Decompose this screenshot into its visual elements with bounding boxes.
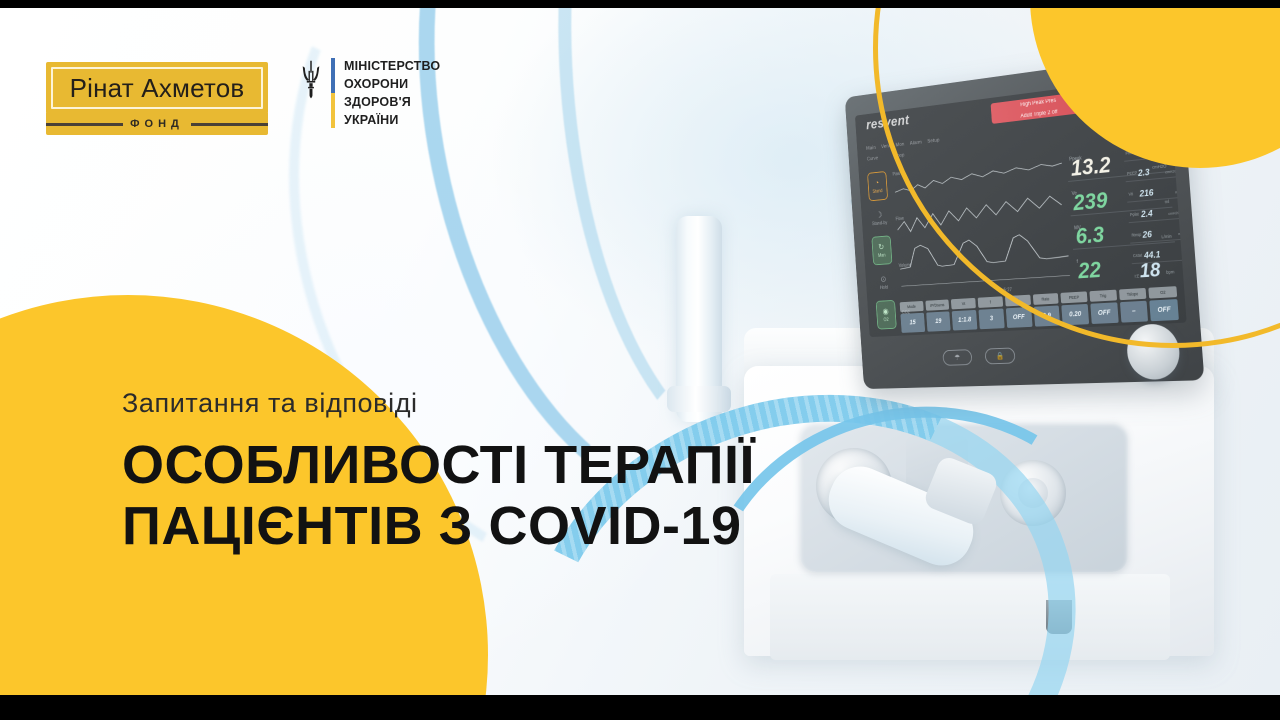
headline-line-1: ОСОБЛИВОСТІ ТЕРАПІЇ: [122, 435, 882, 496]
waveform-label-flow: Flow: [895, 216, 904, 222]
side-button-hold-label: Hold: [880, 285, 888, 291]
side-button-night[interactable]: ☽ Stand-by: [869, 207, 889, 230]
foundation-logo-subtitle-row: ФОНД: [46, 113, 268, 135]
letterbox-top: [0, 0, 1280, 8]
moon-icon: ☽: [876, 210, 883, 219]
slide-headline: ОСОБЛИВОСТІ ТЕРАПІЇ ПАЦІЄНТІВ З COVID-19: [122, 435, 882, 557]
logo-rule-left: [46, 123, 123, 126]
ministry-line-3: УКРАЇНИ: [344, 112, 440, 129]
letterbox-bottom: [0, 695, 1280, 720]
side-button-manual-label: Man: [878, 252, 886, 258]
side-button-oxygen-label: O2: [883, 317, 888, 323]
foundation-logo-subtitle: ФОНД: [130, 118, 184, 130]
headline-line-2: ПАЦІЄНТІВ З COVID-19: [122, 496, 882, 557]
param-header-1: IP/Dsens: [925, 299, 949, 310]
waveform-label-volume: Volume: [899, 263, 912, 269]
side-button-oxygen[interactable]: ◉ O2: [875, 300, 896, 330]
param-header-0: Mode: [900, 301, 924, 312]
alarm-silence-icon[interactable]: ☂: [942, 349, 972, 366]
param-button-3[interactable]: 3: [979, 308, 1005, 329]
side-button-manual[interactable]: ↻ Man: [871, 235, 892, 265]
ministry-logo: МІНІСТЕРСТВО ОХОРОНИ ЗДОРОВ'Я УКРАЇНИ: [300, 58, 440, 129]
slide-subtitle: Запитання та відповіді: [122, 388, 882, 419]
menu-item-0[interactable]: Main: [866, 145, 876, 151]
foundation-logo-box: Рінат Ахметов: [46, 62, 268, 114]
side-button-night-label: Stand-by: [872, 220, 888, 227]
ministry-line-0: МІНІСТЕРСТВО: [344, 58, 440, 75]
param-header-3: f: [978, 296, 1003, 308]
refresh-icon: ↻: [878, 243, 884, 251]
screen-lock-icon[interactable]: 🔒: [984, 347, 1015, 364]
oxygen-icon: ◉: [882, 307, 889, 315]
foundation-logo: Рінат Ахметов ФОНД: [46, 62, 268, 135]
param-header-2: Vt: [951, 298, 976, 310]
logo-rule-right: [191, 123, 268, 126]
power-icon: ◔: [875, 178, 880, 186]
tab-curve[interactable]: Curve: [867, 156, 879, 169]
param-button-1[interactable]: 19: [926, 311, 951, 331]
side-button-standby-label: Stand: [872, 188, 882, 194]
ministry-line-1: ОХОРОНИ: [344, 76, 440, 93]
param-button-2[interactable]: 1:1.8: [952, 310, 977, 331]
hold-icon: ⊙: [880, 275, 886, 283]
ministry-flag-divider: [331, 58, 335, 128]
ministry-line-2: ЗДОРОВ'Я: [344, 94, 440, 111]
side-button-standby[interactable]: ◔ Stand: [867, 171, 888, 201]
foundation-logo-name: Рінат Ахметов: [70, 73, 245, 104]
param-button-0[interactable]: 15: [900, 313, 924, 333]
ukraine-trident-icon: [300, 58, 322, 102]
title-block: Запитання та відповіді ОСОБЛИВОСТІ ТЕРАП…: [122, 388, 882, 557]
ministry-logo-text: МІНІСТЕРСТВО ОХОРОНИ ЗДОРОВ'Я УКРАЇНИ: [344, 58, 440, 129]
side-button-hold[interactable]: ⊙ Hold: [873, 271, 894, 294]
slide-canvas: resvent High Peak Pres Adult Triple 2 of…: [0, 0, 1280, 720]
